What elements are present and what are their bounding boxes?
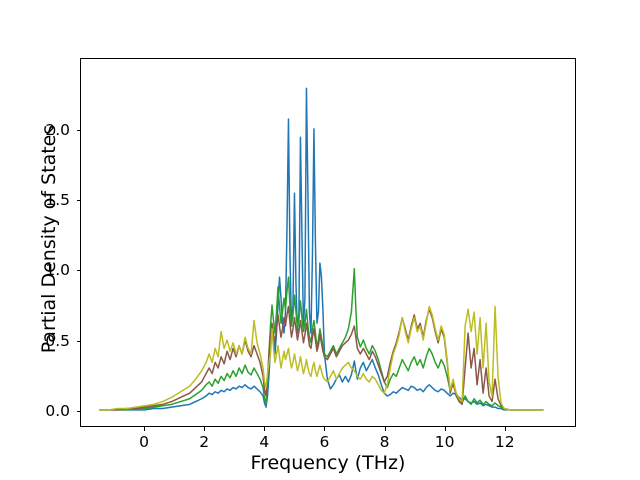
matplotlib-figure: 024681012 0.00.51.01.52.0 Frequency (THz… <box>0 0 640 480</box>
x-tick-mark <box>204 427 205 431</box>
y-tick-mark <box>77 270 81 271</box>
x-tick-label: 4 <box>234 433 294 451</box>
y-tick-mark <box>77 411 81 412</box>
y-tick-mark <box>77 200 81 201</box>
y-tick-mark <box>77 341 81 342</box>
line-series1 <box>100 88 543 410</box>
x-tick-label: 8 <box>355 433 415 451</box>
x-tick-label: 2 <box>174 433 234 451</box>
y-axis-label: Partial Density of States <box>38 54 60 424</box>
x-tick-label: 10 <box>415 433 475 451</box>
x-tick-mark <box>385 427 386 431</box>
x-tick-label: 6 <box>294 433 354 451</box>
x-tick-label: 0 <box>114 433 174 451</box>
plot-axes <box>80 58 576 427</box>
x-tick-label: 12 <box>475 433 535 451</box>
y-tick-mark <box>77 130 81 131</box>
x-tick-mark <box>505 427 506 431</box>
x-tick-mark <box>264 427 265 431</box>
x-tick-mark <box>445 427 446 431</box>
line-series3 <box>100 306 543 409</box>
x-axis-label: Frequency (THz) <box>80 452 576 474</box>
line-series4 <box>100 306 543 409</box>
x-tick-mark <box>144 427 145 431</box>
plot-lines <box>81 59 575 426</box>
x-tick-mark <box>324 427 325 431</box>
